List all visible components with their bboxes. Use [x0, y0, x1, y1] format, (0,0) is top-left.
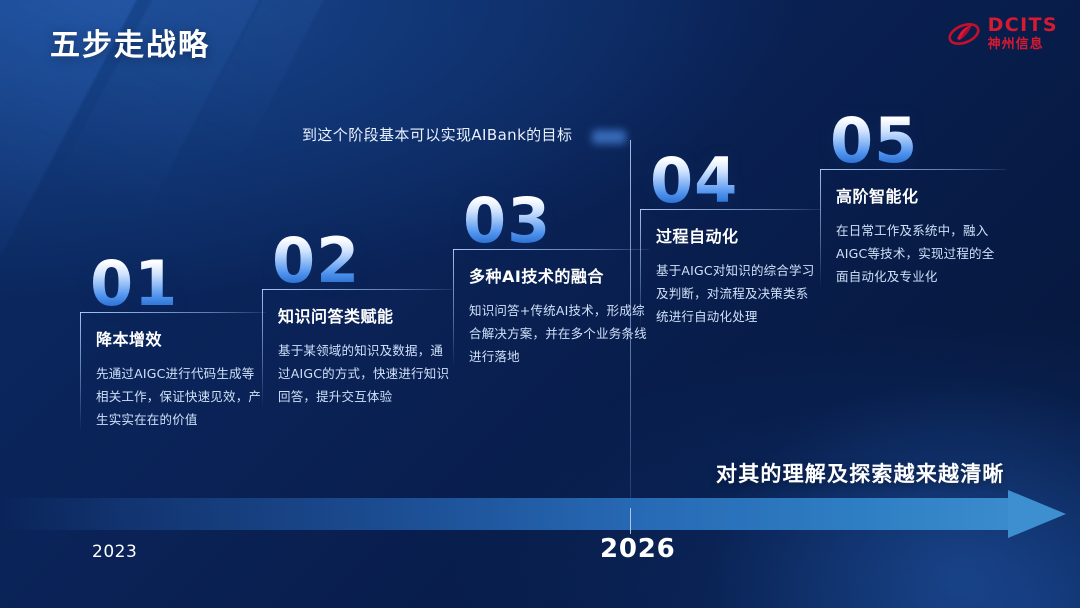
- step-title-01: 降本增效: [96, 326, 266, 350]
- step-desc-01: 先通过AIGC进行代码生成等相关工作，保证快速见效，产生实实在在的价值: [96, 362, 266, 431]
- step-card-02[interactable]: 02 知识问答类赋能 基于某领域的知识及数据，通过AIGC的方式，快速进行知识回…: [262, 232, 452, 408]
- page-title: 五步走战略: [50, 20, 210, 64]
- arrow-head: [1008, 490, 1066, 538]
- timeline-arrow: [0, 490, 1080, 538]
- brand-logo: DCITS 神州信息: [947, 16, 1058, 51]
- step-body-04: 过程自动化 基于AIGC对知识的综合学习及判断，对流程及决策类系统进行自动化处理: [640, 209, 820, 328]
- logo-en-label: DCITS: [988, 16, 1058, 35]
- step-number-02: 02: [272, 232, 452, 289]
- step-number-04: 04: [650, 152, 820, 209]
- step-desc-05: 在日常工作及系统中，融入AIGC等技术，实现过程的全面自动化及专业化: [836, 219, 1006, 288]
- logo-text: DCITS 神州信息: [988, 16, 1058, 51]
- step-card-04[interactable]: 04 过程自动化 基于AIGC对知识的综合学习及判断，对流程及决策类系统进行自动…: [640, 152, 820, 328]
- step-number-05: 05: [830, 112, 1006, 169]
- right-arrow-icon: [0, 498, 1014, 530]
- step-body-01: 降本增效 先通过AIGC进行代码生成等相关工作，保证快速见效，产生实实在在的价值: [80, 312, 266, 431]
- step-card-01[interactable]: 01 降本增效 先通过AIGC进行代码生成等相关工作，保证快速见效，产生实实在在…: [80, 255, 266, 431]
- step-number-01: 01: [90, 255, 266, 312]
- background-glow: [700, 368, 1080, 608]
- step-card-05[interactable]: 05 高阶智能化 在日常工作及系统中，融入AIGC等技术，实现过程的全面自动化及…: [820, 112, 1006, 288]
- logo-cn-label: 神州信息: [988, 38, 1058, 51]
- streak-2: [0, 0, 73, 563]
- step-body-03: 多种AI技术的融合 知识问答+传统AI技术，形成综合解决方案，并在多个业务条线进…: [453, 249, 649, 368]
- step-body-05: 高阶智能化 在日常工作及系统中，融入AIGC等技术，实现过程的全面自动化及专业化: [820, 169, 1006, 288]
- step-title-04: 过程自动化: [656, 223, 820, 247]
- annotation-blur-artifact: [592, 130, 626, 144]
- timeline-start-year: 2023: [92, 542, 137, 562]
- step-desc-03: 知识问答+传统AI技术，形成综合解决方案，并在多个业务条线进行落地: [469, 299, 649, 368]
- step-title-05: 高阶智能化: [836, 183, 1006, 207]
- step-body-02: 知识问答类赋能 基于某领域的知识及数据，通过AIGC的方式，快速进行知识回答，提…: [262, 289, 452, 408]
- timeline-tick: [630, 508, 631, 534]
- step-title-02: 知识问答类赋能: [278, 303, 452, 327]
- tagline-text: 对其的理解及探索越来越清晰: [716, 458, 1005, 488]
- step-title-03: 多种AI技术的融合: [469, 263, 649, 287]
- swoosh-logo-icon: [947, 17, 981, 51]
- timeline-end-year: 2026: [600, 534, 676, 564]
- annotation-text: 到这个阶段基本可以实现AIBank的目标: [302, 124, 572, 145]
- slide-header: 五步走战略 DCITS 神州信息: [0, 0, 1080, 80]
- step-card-03[interactable]: 03 多种AI技术的融合 知识问答+传统AI技术，形成综合解决方案，并在多个业务…: [453, 192, 649, 368]
- slide-root: 五步走战略 DCITS 神州信息 到这个阶段基本可以实现AIBank的目标 01…: [0, 0, 1080, 608]
- step-desc-02: 基于某领域的知识及数据，通过AIGC的方式，快速进行知识回答，提升交互体验: [278, 339, 452, 408]
- step-desc-04: 基于AIGC对知识的综合学习及判断，对流程及决策类系统进行自动化处理: [656, 259, 820, 328]
- step-number-03: 03: [463, 192, 649, 249]
